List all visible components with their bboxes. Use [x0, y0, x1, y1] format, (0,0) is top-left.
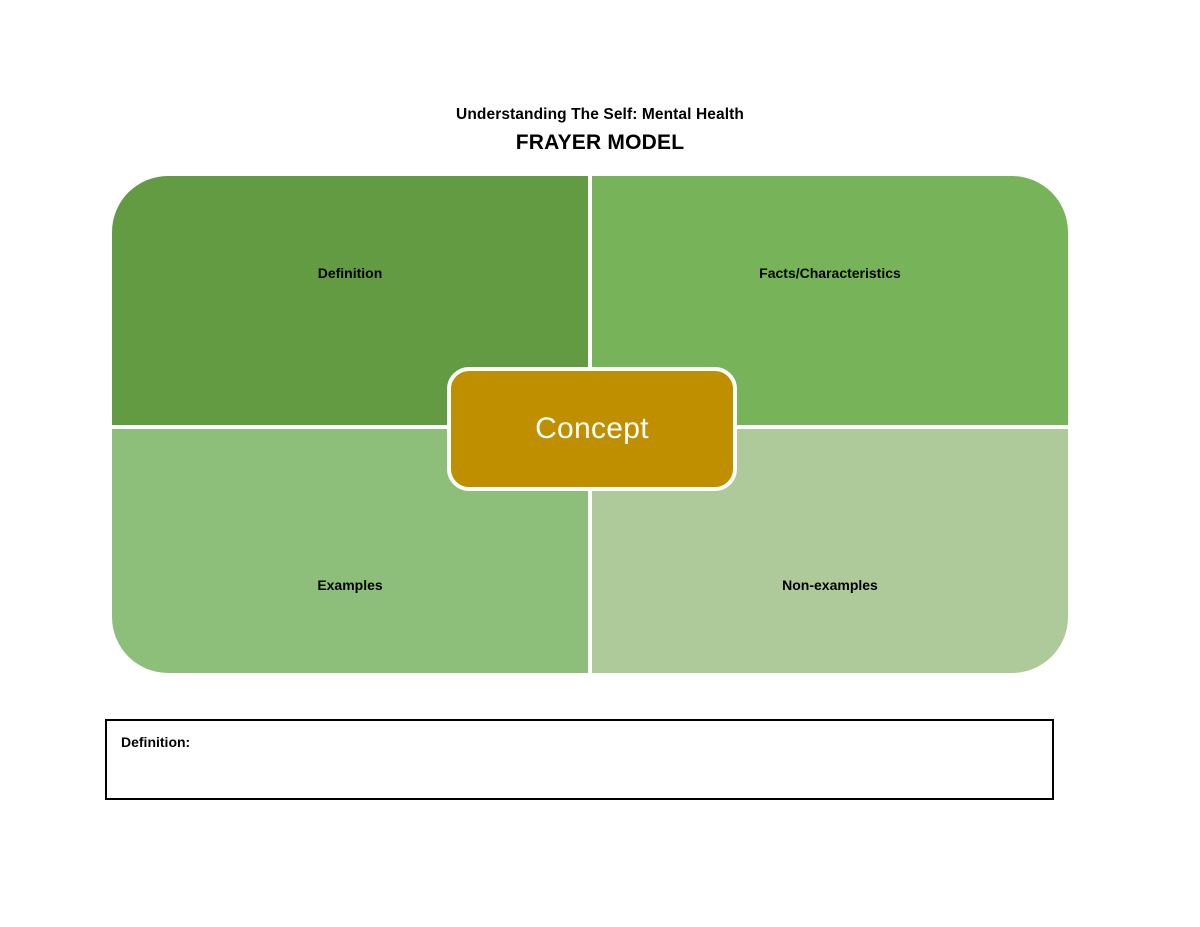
page-title-block: Understanding The Self: Mental Health FR…: [0, 105, 1200, 155]
quadrant-facts-characteristics-label: Facts/Characteristics: [592, 264, 1068, 282]
page-title: FRAYER MODEL: [0, 131, 1200, 155]
concept-label: Concept: [535, 412, 649, 446]
quadrant-definition-label: Definition: [112, 264, 588, 282]
worksheet-subtitle: Understanding The Self: Mental Health: [0, 105, 1200, 125]
definition-field-label: Definition:: [121, 733, 190, 751]
definition-input-box[interactable]: Definition:: [105, 719, 1054, 800]
frayer-model-worksheet: Understanding The Self: Mental Health FR…: [0, 0, 1200, 927]
concept-box[interactable]: Concept: [447, 367, 737, 491]
quadrant-non-examples-label: Non-examples: [592, 576, 1068, 594]
quadrant-examples-label: Examples: [112, 576, 588, 594]
